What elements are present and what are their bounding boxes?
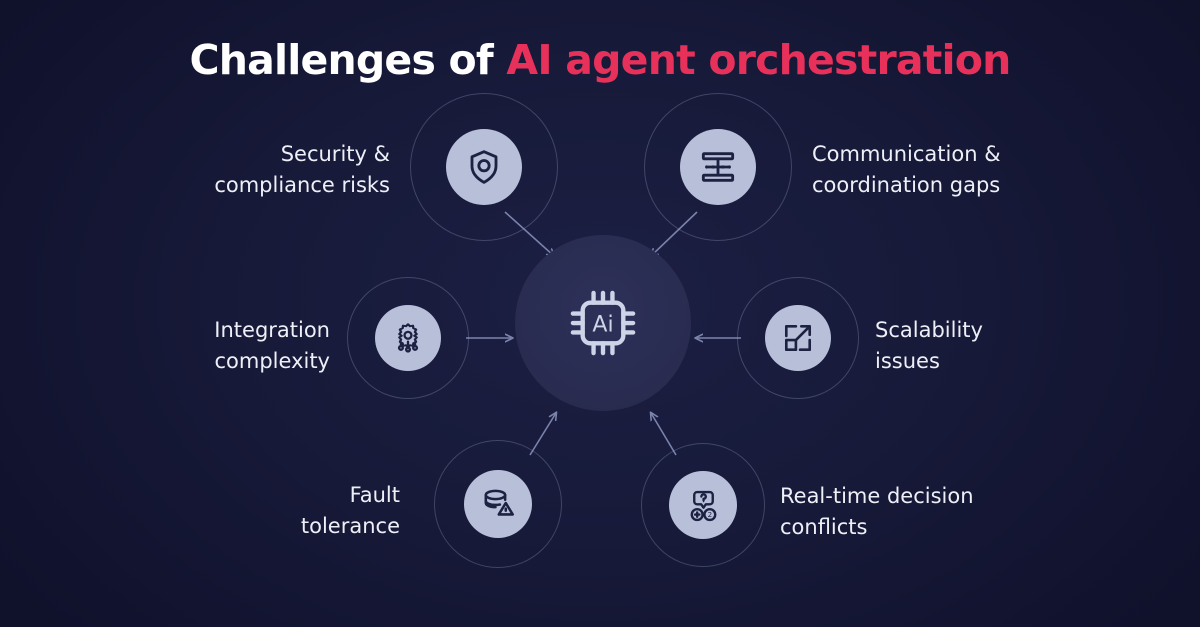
icon-disc-integration bbox=[375, 305, 441, 371]
database-warning-icon bbox=[479, 485, 517, 523]
icon-disc-scalability bbox=[765, 305, 831, 371]
ai-chip-icon: Ai bbox=[561, 281, 645, 365]
node-label-scalability: Scalability issues bbox=[875, 315, 1115, 377]
node-label-fault: Fault tolerance bbox=[150, 480, 400, 542]
svg-text:Ai: Ai bbox=[592, 312, 613, 337]
scale-expand-icon bbox=[780, 320, 816, 356]
icon-disc-fault bbox=[464, 470, 532, 538]
node-label-communication: Communication & coordination gaps bbox=[812, 139, 1112, 201]
hub-ai-core: Ai bbox=[515, 235, 691, 411]
arrow-fault-to-hub bbox=[530, 413, 556, 455]
node-label-conflicts: Real-time decision conflicts bbox=[780, 481, 1030, 543]
icon-disc-conflicts: 2 bbox=[669, 471, 737, 539]
icon-disc-communication bbox=[680, 129, 756, 205]
arrow-conflicts-to-hub bbox=[651, 413, 676, 455]
svg-text:2: 2 bbox=[707, 510, 712, 519]
icon-disc-security bbox=[446, 129, 522, 205]
node-label-integration: Integration complexity bbox=[90, 315, 330, 377]
node-label-security: Security & compliance risks bbox=[110, 139, 390, 201]
shield-icon bbox=[464, 147, 504, 187]
gear-network-icon bbox=[390, 320, 426, 356]
infographic-canvas: Challenges of AI agent orchestration bbox=[0, 0, 1200, 627]
decision-conflict-icon: 2 bbox=[685, 487, 722, 524]
network-hierarchy-icon bbox=[698, 147, 738, 187]
